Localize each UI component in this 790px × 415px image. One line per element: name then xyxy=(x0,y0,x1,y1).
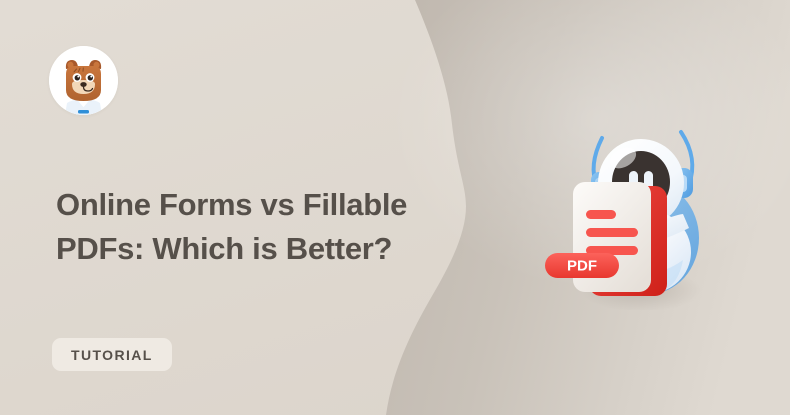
category-tag-badge[interactable]: TUTORIAL xyxy=(52,338,172,371)
document-line-1 xyxy=(586,210,616,219)
blog-banner-card: Online Forms vs Fillable PDFs: Which is … xyxy=(0,0,790,415)
pdf-badge-label: PDF xyxy=(567,258,597,275)
page-title: Online Forms vs Fillable PDFs: Which is … xyxy=(56,183,456,271)
document-line-2 xyxy=(586,228,638,237)
brand-logo-avatar[interactable] xyxy=(49,46,118,115)
pdf-badge: PDF xyxy=(545,253,619,278)
bear-avatar-icon xyxy=(49,46,118,115)
category-tag-label: TUTORIAL xyxy=(71,347,153,363)
robot-pdf-illustration: PDF xyxy=(541,110,731,310)
robot-pdf-illustration-svg: PDF xyxy=(541,110,731,310)
